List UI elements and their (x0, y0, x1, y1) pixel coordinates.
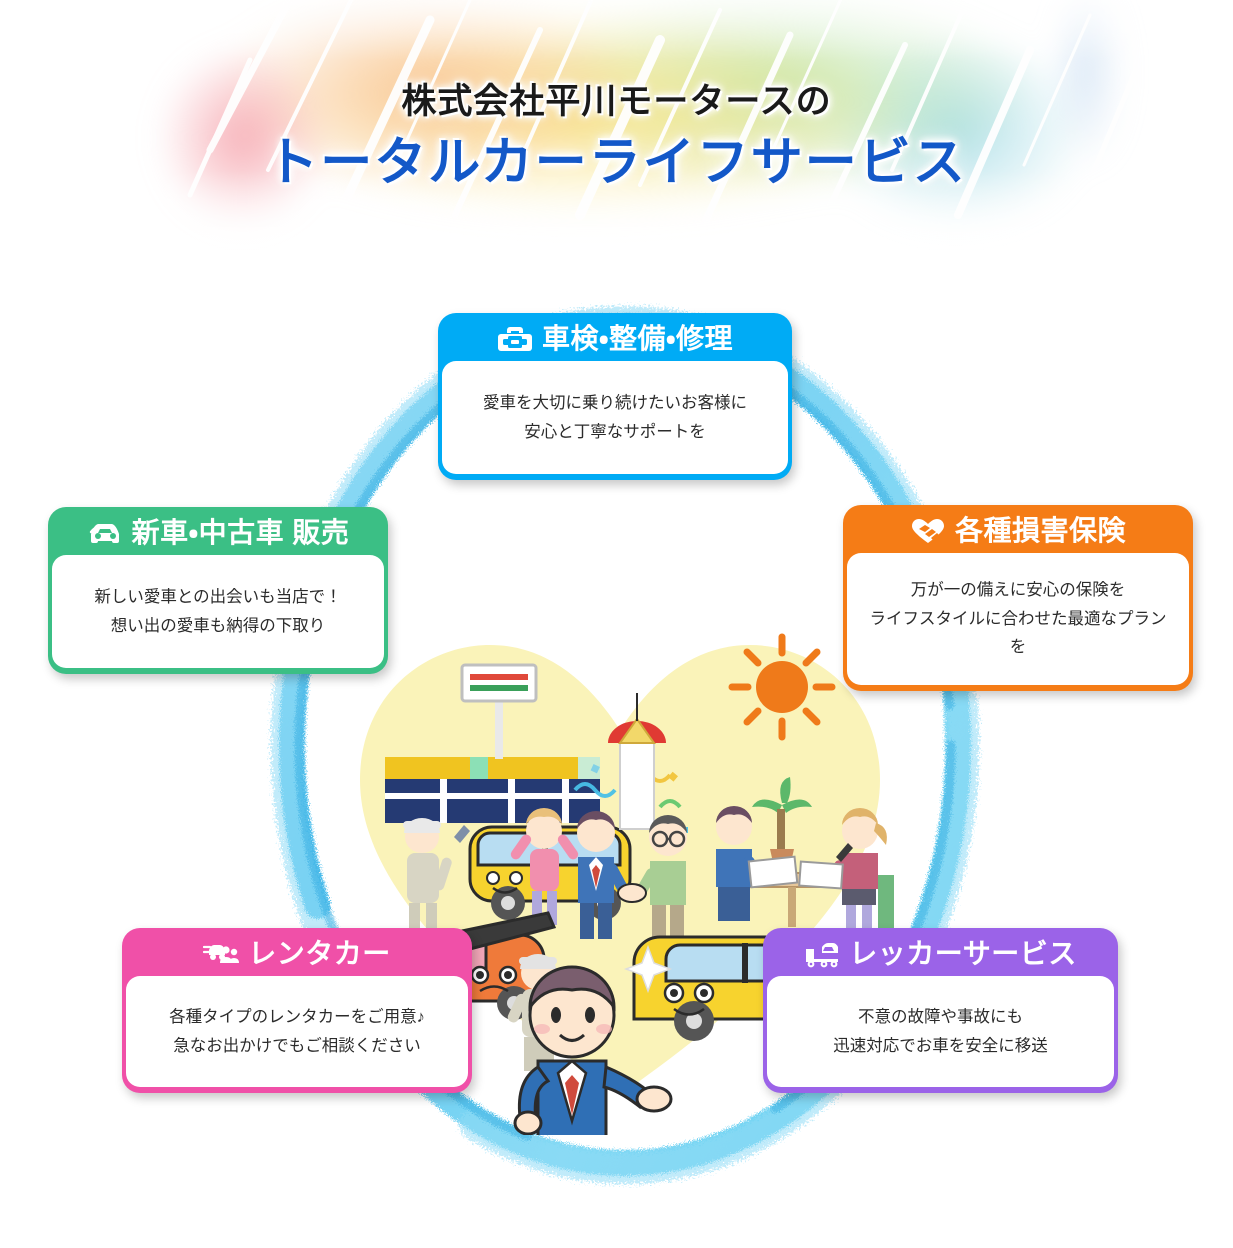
card-title-rental: レンタカー (248, 940, 391, 968)
card-line: を (1010, 633, 1027, 662)
card-body-rental: 各種タイプのレンタカーをご用意♪ 急なお出かけでもご相談ください (126, 976, 468, 1087)
card-title-inspection: 車検・整備・修理 (542, 325, 733, 353)
card-line: ライフスタイルに合わせた最適なプラン (870, 605, 1167, 634)
page-header: 株式会社平川モータースの トータルカーライフサービス (0, 0, 1233, 275)
service-diagram: 車検・整備・修理 愛車を大切に乗り続けたいお客様に 安心と丁寧なサポートを 新車… (0, 255, 1233, 1248)
card-title-sales: 新車・中古車 販売 (132, 519, 350, 547)
card-body-towing: 不意の故障や事故にも 迅速対応でお車を安全に移送 (767, 976, 1114, 1087)
sun-icon (732, 637, 832, 737)
card-line: 愛車を大切に乗り続けたいお客様に (483, 389, 747, 418)
car-front-icon (87, 518, 123, 548)
card-line: 新しい愛車との出会いも当店で！ (94, 583, 341, 612)
card-title-towing: レッカーサービス (849, 940, 1076, 968)
tow-truck-icon (804, 939, 840, 969)
card-header-inspection: 車検・整備・修理 (442, 317, 788, 361)
card-line: 安心と丁寧なサポートを (524, 418, 706, 447)
service-card-towing[interactable]: レッカーサービス 不意の故障や事故にも 迅速対応でお車を安全に移送 (763, 928, 1118, 1093)
card-header-insurance: 各種損害保険 (847, 509, 1189, 553)
card-title-insurance: 各種損害保険 (955, 517, 1126, 545)
card-line: 迅速対応でお車を安全に移送 (833, 1032, 1048, 1061)
card-line: 想い出の愛車も納得の下取り (111, 612, 326, 641)
handshake-heart-icon (910, 516, 946, 546)
card-line: 不意の故障や事故にも (858, 1003, 1023, 1032)
service-card-sales[interactable]: 新車・中古車 販売 新しい愛車との出会いも当店で！ 想い出の愛車も納得の下取り (48, 507, 388, 674)
card-line: 急なお出かけでもご相談ください (173, 1032, 421, 1061)
toolbox-icon (497, 324, 533, 354)
card-header-towing: レッカーサービス (767, 932, 1114, 976)
rental-car-people-icon (203, 939, 239, 969)
page-subtitle: 株式会社平川モータースの (401, 79, 831, 125)
service-card-insurance[interactable]: 各種損害保険 万が一の備えに安心の保険を ライフスタイルに合わせた最適なプラン … (843, 505, 1193, 691)
service-card-inspection[interactable]: 車検・整備・修理 愛車を大切に乗り続けたいお客様に 安心と丁寧なサポートを (438, 313, 792, 480)
card-body-insurance: 万が一の備えに安心の保険を ライフスタイルに合わせた最適なプラン を (847, 553, 1189, 685)
card-header-sales: 新車・中古車 販売 (52, 511, 384, 555)
card-header-rental: レンタカー (126, 932, 468, 976)
card-body-sales: 新しい愛車との出会いも当店で！ 想い出の愛車も納得の下取り (52, 555, 384, 668)
card-body-inspection: 愛車を大切に乗り続けたいお客様に 安心と丁寧なサポートを (442, 361, 788, 474)
page-title: トータルカーライフサービス (266, 131, 966, 196)
card-line: 各種タイプのレンタカーをご用意♪ (169, 1003, 425, 1032)
card-line: 万が一の備えに安心の保険を (911, 576, 1126, 605)
service-card-rental[interactable]: レンタカー 各種タイプのレンタカーをご用意♪ 急なお出かけでもご相談ください (122, 928, 472, 1093)
